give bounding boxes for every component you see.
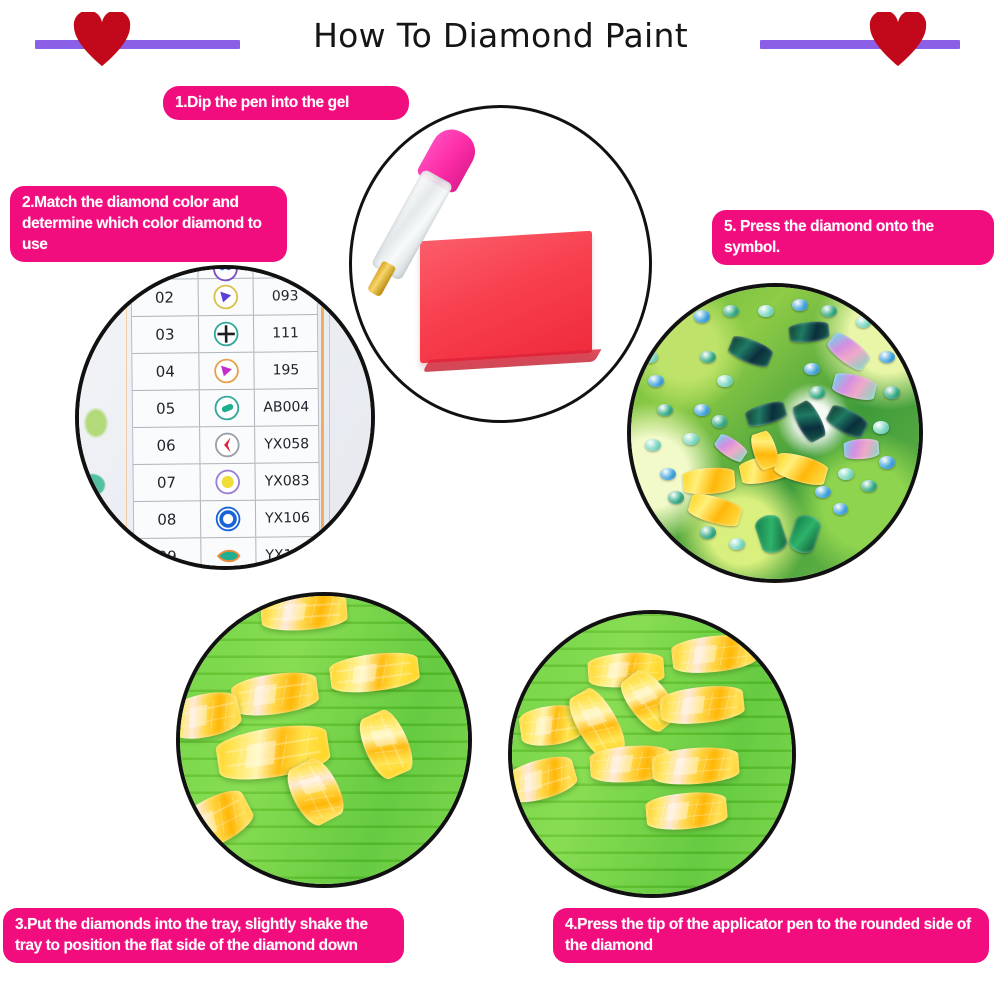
table-row: 08YX106 — [133, 500, 318, 539]
step-5-label: 5. Press the diamond onto the symbol. — [712, 210, 994, 265]
table-row: 05AB004 — [132, 389, 317, 428]
placed-diamond — [752, 512, 788, 556]
placed-diamond — [843, 438, 879, 461]
placed-diamond — [879, 456, 895, 468]
pen-tip — [367, 260, 397, 297]
leaf-symbol — [215, 543, 241, 569]
placed-diamond — [879, 351, 895, 363]
placed-diamond — [884, 386, 900, 398]
chevron-left-symbol — [213, 432, 239, 458]
placed-diamond — [838, 468, 854, 480]
placed-diamond — [744, 399, 788, 430]
color-number: 02 — [131, 279, 198, 316]
placed-diamond — [792, 299, 808, 311]
page-title: How To Diamond Paint — [0, 16, 1001, 55]
table-row: 06YX058 — [133, 426, 318, 465]
placed-diamond — [657, 404, 673, 416]
color-code: YX106 — [256, 510, 319, 527]
ring-symbol — [214, 506, 240, 532]
placed-diamond — [682, 466, 736, 496]
placed-diamond — [668, 491, 684, 503]
paint-blob — [85, 409, 107, 437]
color-symbol-cell — [200, 501, 256, 538]
photo-color-chart: 02802093031110419505AB00406YX05807YX0830… — [75, 265, 375, 570]
placed-diamond — [729, 538, 745, 550]
table-row: 04195 — [132, 352, 317, 391]
placed-diamond — [830, 370, 878, 403]
capsule-symbol — [213, 395, 239, 421]
table-row: 09YX125 — [134, 537, 319, 570]
chart-margin-line — [321, 269, 324, 566]
placed-diamond — [772, 450, 829, 490]
placed-diamond — [758, 305, 774, 317]
placed-diamond — [790, 398, 830, 445]
paint-blob — [79, 474, 105, 496]
placed-diamond — [726, 332, 775, 370]
color-symbol-cell — [198, 316, 254, 353]
triangle-symbol — [213, 358, 239, 384]
placed-diamond — [712, 415, 728, 427]
placed-diamond — [700, 351, 716, 363]
placed-diamond — [645, 439, 661, 451]
placed-diamond — [686, 491, 743, 531]
placed-diamond — [660, 468, 676, 480]
photo-diamonds-in-tray — [176, 592, 472, 888]
placed-diamond — [723, 305, 739, 317]
infographic-canvas: How To Diamond Paint 1.Dip the pen into … — [0, 0, 1001, 1001]
placed-diamond — [787, 512, 823, 556]
color-symbol-cell — [198, 279, 254, 316]
color-code: YX058 — [255, 436, 318, 453]
placed-diamond — [694, 310, 710, 322]
placed-diamond — [873, 421, 889, 433]
placed-diamond — [815, 486, 831, 498]
color-number: 09 — [134, 538, 201, 570]
placed-diamond — [717, 375, 733, 387]
step-4-label: 4.Press the tip of the applicator pen to… — [553, 908, 989, 963]
placed-diamond — [712, 431, 748, 463]
color-legend-table: 02802093031110419505AB00406YX05807YX0830… — [130, 265, 320, 570]
step-2-label: 2.Match the diamond color and determine … — [10, 186, 287, 262]
color-code: YX083 — [255, 473, 318, 490]
table-row: 02093 — [131, 278, 316, 317]
chart-margin-line — [329, 269, 331, 566]
color-code: AB004 — [254, 399, 317, 416]
placed-diamond — [804, 363, 820, 375]
color-symbol-cell — [199, 427, 255, 464]
placed-diamond — [824, 329, 872, 374]
mosaic-gems — [631, 287, 919, 579]
triangle-symbol — [212, 284, 238, 310]
filled-dot-symbol — [214, 469, 240, 495]
placed-diamond — [683, 433, 699, 445]
color-number: 08 — [133, 501, 200, 538]
placed-diamond — [833, 503, 849, 515]
placed-diamond — [694, 404, 710, 416]
placed-diamond — [856, 316, 872, 328]
color-number: 03 — [131, 316, 198, 353]
photo-pen-picking-diamond — [508, 610, 796, 898]
color-code: 093 — [253, 288, 316, 305]
color-code: 111 — [254, 325, 317, 342]
plus-symbol — [212, 321, 238, 347]
color-code: 028 — [253, 265, 316, 277]
color-symbol-cell — [197, 265, 253, 278]
placed-diamond — [824, 402, 871, 442]
gel-pad — [420, 231, 592, 363]
color-symbol-cell — [198, 353, 254, 390]
color-number — [131, 265, 198, 279]
photo-dip-pen-in-gel — [349, 105, 652, 423]
color-number: 04 — [132, 353, 199, 390]
placed-diamond — [788, 320, 830, 345]
color-symbol-cell — [200, 538, 256, 570]
color-number: 05 — [132, 390, 199, 427]
placed-diamond — [810, 386, 826, 398]
color-code: YX125 — [256, 547, 319, 564]
placed-diamond — [861, 480, 877, 492]
chart-margin-line — [126, 269, 128, 566]
step-3-label: 3.Put the diamonds into the tray, slight… — [3, 908, 404, 963]
photo-placing-diamond — [627, 283, 923, 583]
color-symbol-cell — [200, 464, 256, 501]
color-symbol-cell — [199, 390, 255, 427]
placed-diamond — [821, 305, 837, 317]
placed-diamond — [700, 526, 716, 538]
color-number: 06 — [133, 427, 200, 464]
table-row: 03111 — [131, 315, 316, 354]
placed-diamond — [648, 375, 664, 387]
color-number: 07 — [133, 464, 200, 501]
table-row: 07YX083 — [133, 463, 318, 502]
color-code: 195 — [254, 362, 317, 379]
